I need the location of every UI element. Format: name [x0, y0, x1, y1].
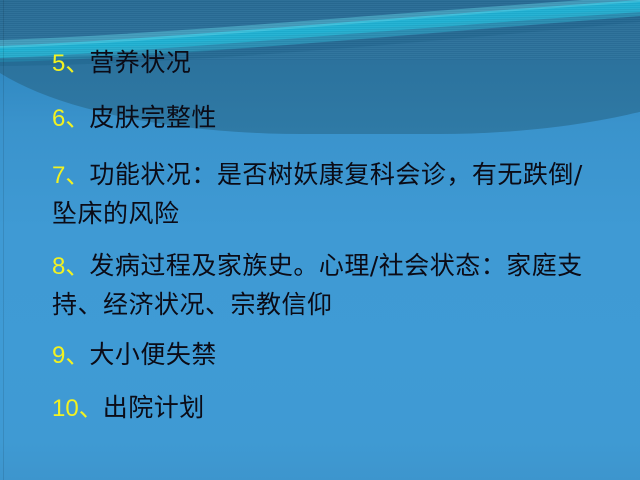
list-item-number: 8、 — [52, 253, 89, 280]
list-item-text: 大小便失禁 — [89, 340, 217, 369]
list-item-text: 出院计划 — [103, 393, 205, 422]
presentation-slide: 5、营养状况 6、皮肤完整性 7、功能状况：是否树妖康复科会诊，有无跌倒/坠床的… — [0, 0, 640, 480]
list-item-text: 功能状况：是否树妖康复科会诊，有无跌倒/坠床的风险 — [52, 160, 583, 228]
list-item: 10、出院计划 — [52, 389, 598, 428]
list-item: 7、功能状况：是否树妖康复科会诊，有无跌倒/坠床的风险 — [52, 156, 598, 233]
list-item: 9、大小便失禁 — [52, 336, 598, 375]
list-item-number: 5、 — [52, 50, 89, 77]
list-item: 5、营养状况 — [52, 44, 598, 83]
list-item-number: 9、 — [52, 342, 89, 369]
list-item-text: 营养状况 — [89, 48, 191, 77]
list-item: 6、皮肤完整性 — [52, 99, 598, 138]
list-item-number: 7、 — [52, 162, 89, 189]
list-item-text: 发病过程及家族史。心理/社会状态：家庭支持、经济状况、宗教信仰 — [52, 251, 583, 319]
list-item-text: 皮肤完整性 — [89, 103, 217, 132]
list-item: 8、发病过程及家族史。心理/社会状态：家庭支持、经济状况、宗教信仰 — [52, 247, 598, 324]
list-item-number: 6、 — [52, 105, 89, 132]
slide-content-list: 5、营养状况 6、皮肤完整性 7、功能状况：是否树妖康复科会诊，有无跌倒/坠床的… — [0, 0, 640, 480]
list-item-number: 10、 — [52, 395, 103, 422]
